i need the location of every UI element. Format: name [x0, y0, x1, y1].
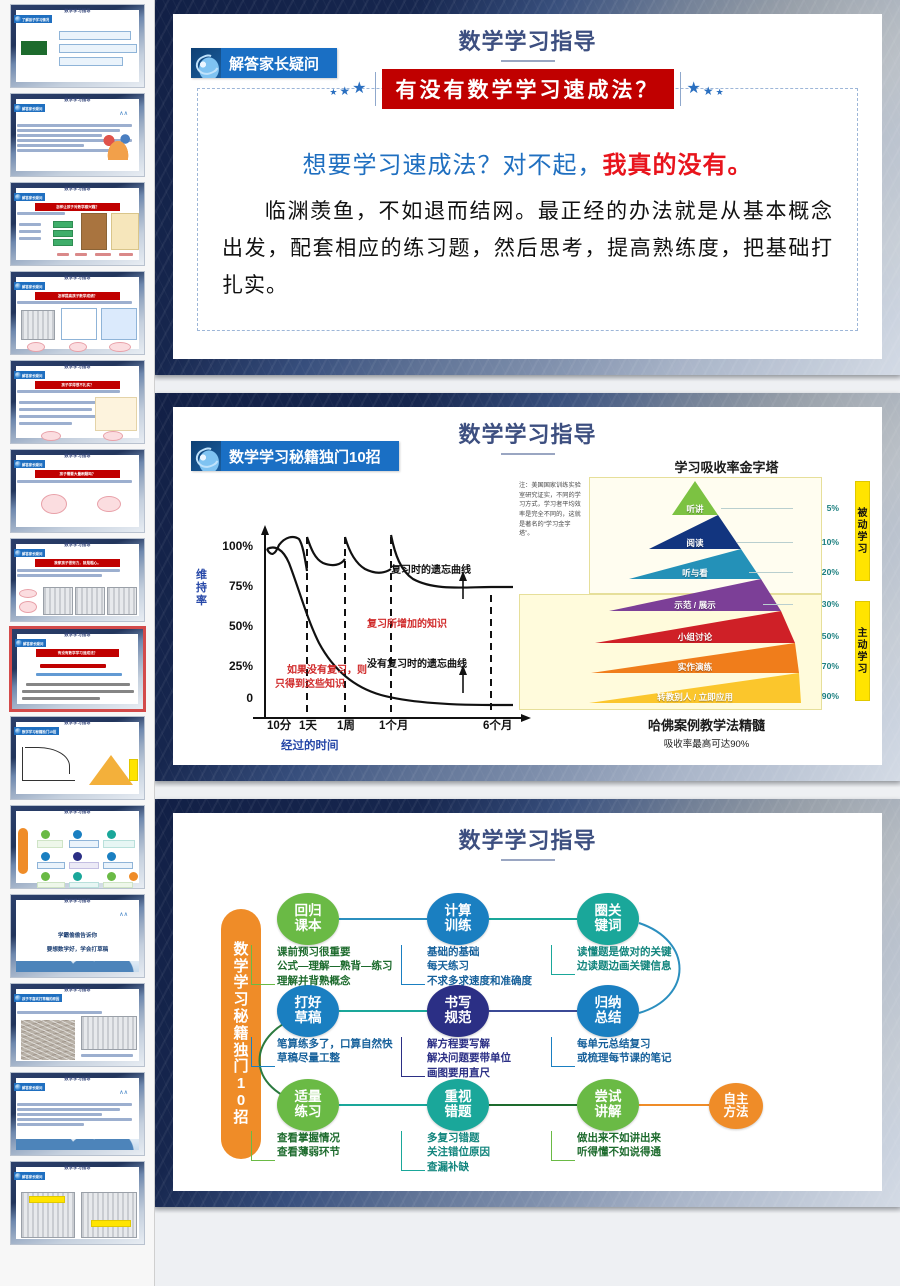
mindmap-node-1[interactable]: 回归课本 — [277, 893, 339, 945]
pyramid-level-6: 实作演练 — [589, 661, 801, 673]
thumb-title: 数学学习指导 — [11, 720, 144, 726]
thumbnail-slide-12[interactable]: 数学学习指导孩子不喜欢打草稿的原因 — [10, 983, 145, 1067]
mindmap-subs-8: 多复习错题关注错位原因查漏补缺 — [427, 1131, 490, 1174]
bracket-6 — [551, 1037, 575, 1067]
pyramid-level-1: 听讲 — [589, 503, 801, 515]
thumb-lines — [17, 390, 138, 395]
forgetting-curve-ylabel: 维持率 — [195, 569, 208, 608]
wave-decoration — [16, 1139, 139, 1150]
bracket-9 — [551, 1131, 575, 1161]
pyramid-title: 学习吸收率金字塔 — [579, 457, 874, 476]
thumb-tag: 解答家长疑问 — [14, 371, 45, 379]
thumb-title: 数学学习指导 — [11, 186, 144, 192]
thumb-title: 数学学习指导 — [12, 632, 143, 638]
thumb-line — [17, 1123, 84, 1126]
mindmap-subs-9: 做出来不如讲出来听得懂不如说得通 — [577, 1131, 661, 1159]
thumb-branch — [59, 31, 131, 40]
pyramid-level-5: 小组讨论 — [589, 631, 801, 643]
ytick-75: 75% — [211, 579, 253, 593]
thumb-title: 数学学习指导 — [11, 275, 144, 281]
birds-icon: ∧∧ — [119, 110, 128, 117]
thumb-branch — [59, 44, 137, 53]
slide-3-shadow — [155, 1207, 900, 1213]
slides-scroll-area[interactable]: 数学学习指导 解答家长疑问 ★★★ 有没有数学学习速成法？ — [155, 0, 900, 1286]
thumb-title: 数学学习指导 — [11, 1165, 144, 1171]
thumb-node — [21, 41, 47, 55]
thumb-title: 数学学习指导 — [11, 453, 144, 459]
learning-pyramid-chart: 学习吸收率金字塔 注：美国国家训练实验室研究证实，不同的学习方式，学习者平均效率… — [519, 455, 874, 760]
question-banner-row: ★★★ 有没有数学学习速成法？ ★★★ — [198, 69, 857, 109]
thumb-mm-node — [41, 852, 50, 861]
thumb-mm-node — [41, 830, 50, 839]
thumbnail-slide-11[interactable]: 数学学习指导学霸偷偷告诉你要想数学好，学会打草稿∧∧ — [10, 894, 145, 978]
thumb-line — [17, 134, 102, 137]
slide-thumbnail-sidebar[interactable]: 数学学习指导了解孩子学习情况数学学习指导解答家长疑问∧∧数学学习指导解答家长疑问… — [0, 0, 155, 1286]
wave-decoration — [16, 961, 139, 972]
bracket-4 — [251, 1037, 275, 1067]
thumb-tag: 孩子不喜欢打草稿的原因 — [14, 994, 62, 1002]
thumb-bigtext-2: 要想数学好，学会打草稿 — [11, 945, 144, 953]
thumb-spine — [18, 828, 28, 874]
slide-3-background: 数学学习指导 数学学习秘籍独门10招 — [155, 799, 900, 1207]
pyramid-level-2: 阅读 — [589, 537, 801, 549]
mindmap-node-8[interactable]: 重视错题 — [427, 1079, 489, 1131]
thumb-pyramid — [89, 755, 133, 785]
thumb-title: 数学学习指导 — [11, 809, 144, 815]
thumb-lines — [17, 301, 138, 306]
slide-3-page: 数学学习指导 数学学习秘籍独门10招 — [173, 813, 882, 1191]
thumb-branch — [59, 57, 123, 66]
bracket-1 — [251, 945, 275, 985]
thumb-banner: 怎样让孩子对数学感兴趣？ — [35, 203, 120, 211]
xtick-1day: 1天 — [299, 717, 317, 733]
thumbnail-list[interactable]: 数学学习指导了解孩子学习情况数学学习指导解答家长疑问∧∧数学学习指导解答家长疑问… — [0, 0, 154, 1254]
thumb-title: 数学学习指导 — [11, 97, 144, 103]
divider-right — [680, 72, 681, 106]
annotation-reviewed-curve: 复习时的遗忘曲线 — [391, 561, 471, 576]
slide-2-background: 数学学习指导 数学学习秘籍独门10招 维持率 100% 75% 50 — [155, 393, 900, 781]
stars-right-icon: ★★★ — [687, 81, 726, 97]
pyramid-level-3: 听与看 — [589, 567, 801, 579]
slide-3-content: 数学学习秘籍独门10招 — [173, 861, 882, 1191]
thumb-mm-node — [73, 852, 82, 861]
thumb-banner: 怎样提高孩子数学成绩？ — [35, 292, 120, 300]
slide-3-title: 数学学习指导 — [173, 813, 882, 861]
thumbnail-slide-4[interactable]: 数学学习指导解答家长疑问怎样提高孩子数学成绩？ — [10, 271, 145, 355]
thumb-tag: 解答家长疑问 — [14, 282, 45, 290]
thumb-title: 数学学习指导 — [11, 364, 144, 370]
answer-headline: 想要学习速成法？对不起，我真的没有。 — [222, 145, 833, 180]
ytick-50: 50% — [211, 619, 253, 633]
thumb-line — [17, 144, 84, 147]
pyramid-lead-4 — [763, 604, 793, 605]
thumb-tag: 数学学习秘籍独门10招 — [14, 727, 59, 735]
pyramid-lead-1 — [721, 508, 793, 509]
pyramid-pct-6: 70% — [805, 661, 839, 671]
forgetting-curve-xlabel: 经过的时间 — [281, 737, 339, 753]
thumb-title: 数学学习指导 — [11, 987, 144, 993]
thumb-banner: 孩子需要大量刷题吗？ — [35, 470, 120, 478]
pyramid-lead-2 — [737, 542, 793, 543]
pyramid-group-passive: 被动学习 — [855, 481, 870, 581]
slide-1-page: 数学学习指导 解答家长疑问 ★★★ 有没有数学学习速成法？ — [173, 14, 882, 359]
thumb-mm-node — [107, 852, 116, 861]
mindmap-node-2[interactable]: 计算训练 — [427, 893, 489, 945]
mindmap-subs-3: 读懂题是做对的关键边读题边画关键信息 — [577, 945, 672, 973]
divider-left — [375, 72, 376, 106]
thumb-lines — [17, 569, 138, 579]
thumbnail-slide-10[interactable]: 数学学习指导 — [10, 805, 145, 889]
mindmap-subs-1: 课前预习很重要公式—理解—熟背—练习理解并背熟概念 — [277, 945, 393, 988]
pyramid-footer-sub: 吸收率最高可达90% — [579, 736, 834, 750]
pyramid-level-7: 转教别人 / 立即应用 — [589, 691, 801, 703]
pyramid-pct-1: 5% — [805, 503, 839, 513]
thumb-tag: 解答家长疑问 — [14, 193, 45, 201]
ytick-100: 100% — [211, 539, 253, 553]
pyramid-pct-7: 90% — [805, 691, 839, 701]
thumbnail-slide-9[interactable]: 数学学习指导数学学习秘籍独门10招 — [10, 716, 145, 800]
thumb-mm-node — [73, 830, 82, 839]
note-illustration — [95, 397, 137, 431]
xtick-10min: 10分 — [267, 717, 291, 733]
thumb-tag: 了解孩子学习情况 — [14, 15, 52, 23]
xtick-1month: 1个月 — [379, 717, 408, 733]
thumbnail-slide-1[interactable]: 数学学习指导了解孩子学习情况 — [10, 4, 145, 88]
forgetting-curve-chart: 维持率 100% 75% 50% 25% 0 — [195, 515, 535, 753]
slide-1-background: 数学学习指导 解答家长疑问 ★★★ 有没有数学学习速成法？ — [155, 0, 900, 375]
xtick-6month: 6个月 — [483, 717, 512, 733]
mindmap-node-4[interactable]: 打好草稿 — [277, 985, 339, 1037]
pyramid-pct-5: 50% — [805, 631, 839, 641]
pyramid-pct-3: 20% — [805, 567, 839, 577]
thumb-tag: 解答家长疑问 — [14, 1083, 45, 1091]
birds-icon: ∧∧ — [119, 911, 128, 918]
thumb-mm-node — [73, 872, 82, 881]
annotation-no-review-2: 只得到这些知识 — [275, 675, 345, 690]
pyramid-footer-title: 哈佛案例教学法精髓 — [579, 715, 834, 734]
thumb-title: 数学学习指导 — [11, 542, 144, 548]
thumbnail-slide-6[interactable]: 数学学习指导解答家长疑问孩子需要大量刷题吗？ — [10, 449, 145, 533]
thumb-banner: 有没有数学学习速成法？ — [36, 649, 120, 657]
annotation-no-review-1: 如果没有复习，则 — [287, 661, 367, 676]
mindmap-node-10[interactable]: 自主方法 — [709, 1083, 763, 1129]
bracket-2 — [401, 945, 425, 985]
ytick-0: 0 — [211, 691, 253, 705]
thumbnail-slide-14[interactable]: 数学学习指导解答家长疑问 — [10, 1161, 145, 1245]
bracket-8 — [401, 1131, 425, 1171]
pyramid-pct-2: 10% — [805, 537, 839, 547]
slide-1-content-box: ★★★ 有没有数学学习速成法？ ★★★ 想要学习速成法？对不起，我真的没有。 — [197, 88, 858, 331]
mindmap-subs-2: 基础的基础每天练习不求多求速度和准确度 — [427, 945, 532, 988]
pyramid-note: 注：美国国家训练实验室研究证实，不同的学习方式，学习者平均效率是完全不同的，这就… — [519, 481, 583, 539]
mindmap-subs-6: 每单元总结复习或梳理每节课的笔记 — [577, 1037, 672, 1065]
thumb-lines — [17, 480, 138, 485]
bracket-3 — [551, 945, 575, 975]
xtick-1week: 1周 — [337, 717, 355, 733]
thumb-forgetting-curve — [22, 747, 75, 781]
mindmap-subs-4: 笔算练多了，口算自然快草稿尽量工整 — [277, 1037, 393, 1065]
thumb-line — [17, 1113, 102, 1116]
mindmap-node-6[interactable]: 归纳总结 — [577, 985, 639, 1037]
thumb-tag: 解答家长疑问 — [14, 549, 45, 557]
slide-2-shadow — [155, 781, 900, 787]
powerpoint-like-document-view: 数学学习指导了解孩子学习情况数学学习指导解答家长疑问∧∧数学学习指导解答家长疑问… — [0, 0, 900, 1286]
bracket-5 — [401, 1037, 425, 1077]
thumb-tag: 解答家长疑问 — [15, 639, 46, 647]
title-underline — [501, 60, 555, 62]
photo-2 — [81, 1192, 137, 1238]
thumb-tag: 解答家长疑问 — [14, 460, 45, 468]
pyramid-level-4: 示范 / 展示 — [589, 599, 801, 611]
thumb-banner: 孩子学得很不扎实？ — [35, 381, 120, 389]
mindmap-node-5[interactable]: 书写规范 — [427, 985, 489, 1037]
slide-2-page: 数学学习指导 数学学习秘籍独门10招 维持率 100% 75% 50 — [173, 407, 882, 765]
bookshelf-illustration — [81, 213, 107, 250]
thumb-title: 数学学习指导 — [11, 1076, 144, 1082]
thumb-title: 数学学习指导 — [11, 898, 144, 904]
thumb-line — [17, 1118, 132, 1121]
thumbnail-slide-2[interactable]: 数学学习指导解答家长疑问∧∧ — [10, 93, 145, 177]
kids-illustration — [100, 130, 136, 160]
thumb-mm-node — [41, 872, 50, 881]
pyramid-pct-4: 30% — [805, 599, 839, 609]
thumb-tag: 解答家长疑问 — [14, 1172, 45, 1180]
card-illustration — [111, 213, 139, 250]
slide-1-shadow — [155, 375, 900, 381]
stars-left-icon: ★★★ — [329, 81, 368, 97]
photo-2 — [81, 1016, 137, 1050]
mindmap-node-3[interactable]: 圈关键词 — [577, 893, 639, 945]
mindmap-node-9[interactable]: 尝试讲解 — [577, 1079, 639, 1131]
thumb-mm-node — [129, 872, 138, 881]
thumbnail-slide-8[interactable]: 数学学习指导解答家长疑问有没有数学学习速成法？ — [10, 627, 145, 711]
thumb-mm-node — [107, 872, 116, 881]
thumbnail-slide-7[interactable]: 数学学习指导解答家长疑问我家孩子很努力，就是粗心。 — [10, 538, 145, 622]
thumb-lines — [17, 1103, 138, 1128]
slide-3-container: 数学学习指导 数学学习秘籍独门10招 — [155, 799, 900, 1213]
birds-icon: ∧∧ — [119, 1089, 128, 1096]
annotation-unreviewed-curve: 没有复习时的遗忘曲线 — [367, 655, 467, 670]
thumb-line — [17, 1103, 132, 1106]
thumb-banner: 我家孩子很努力，就是粗心。 — [35, 559, 120, 567]
worksheet-photo — [21, 310, 55, 340]
question-banner: 有没有数学学习速成法？ — [382, 69, 674, 109]
pyramid-group-active: 主动学习 — [855, 601, 870, 701]
thumbnail-slide-3[interactable]: 数学学习指导解答家长疑问怎样让孩子对数学感兴趣？ — [10, 182, 145, 266]
slide-2-content: 维持率 100% 75% 50% 25% 0 — [173, 455, 882, 765]
mindmap-node-7[interactable]: 适量练习 — [277, 1079, 339, 1131]
mindmap-subs-5: 解方程要写解解决问题要带单位画图要用直尺 — [427, 1037, 511, 1080]
thumb-tag: 解答家长疑问 — [14, 104, 45, 112]
answer-paragraph: 临渊羡鱼，不如退而结网。最正经的办法就是从基本概念出发，配套相应的练习题，然后思… — [222, 194, 833, 304]
thumb-line — [17, 124, 132, 127]
thumb-line — [17, 1108, 120, 1111]
pyramid-lead-3 — [749, 572, 793, 573]
slide-1-container: 数学学习指导 解答家长疑问 ★★★ 有没有数学学习速成法？ — [155, 0, 900, 381]
bracket-7 — [251, 1131, 275, 1161]
annotation-gained-knowledge: 复习所增加的知识 — [367, 615, 447, 630]
mindmap-subs-7: 查看掌握情况查看薄弱环节 — [277, 1131, 340, 1159]
thumbnail-slide-13[interactable]: 数学学习指导解答家长疑问∧∧ — [10, 1072, 145, 1156]
photo-1 — [21, 1020, 75, 1060]
thumbnail-slide-5[interactable]: 数学学习指导解答家长疑问孩子学得很不扎实？ — [10, 360, 145, 444]
thumb-title: 数学学习指导 — [11, 8, 144, 14]
ytick-25: 25% — [211, 659, 253, 673]
slide-2-container: 数学学习指导 数学学习秘籍独门10招 维持率 100% 75% 50 — [155, 393, 900, 787]
thumb-mm-node — [107, 830, 116, 839]
thumb-bigtext-1: 学霸偷偷告诉你 — [11, 931, 144, 939]
